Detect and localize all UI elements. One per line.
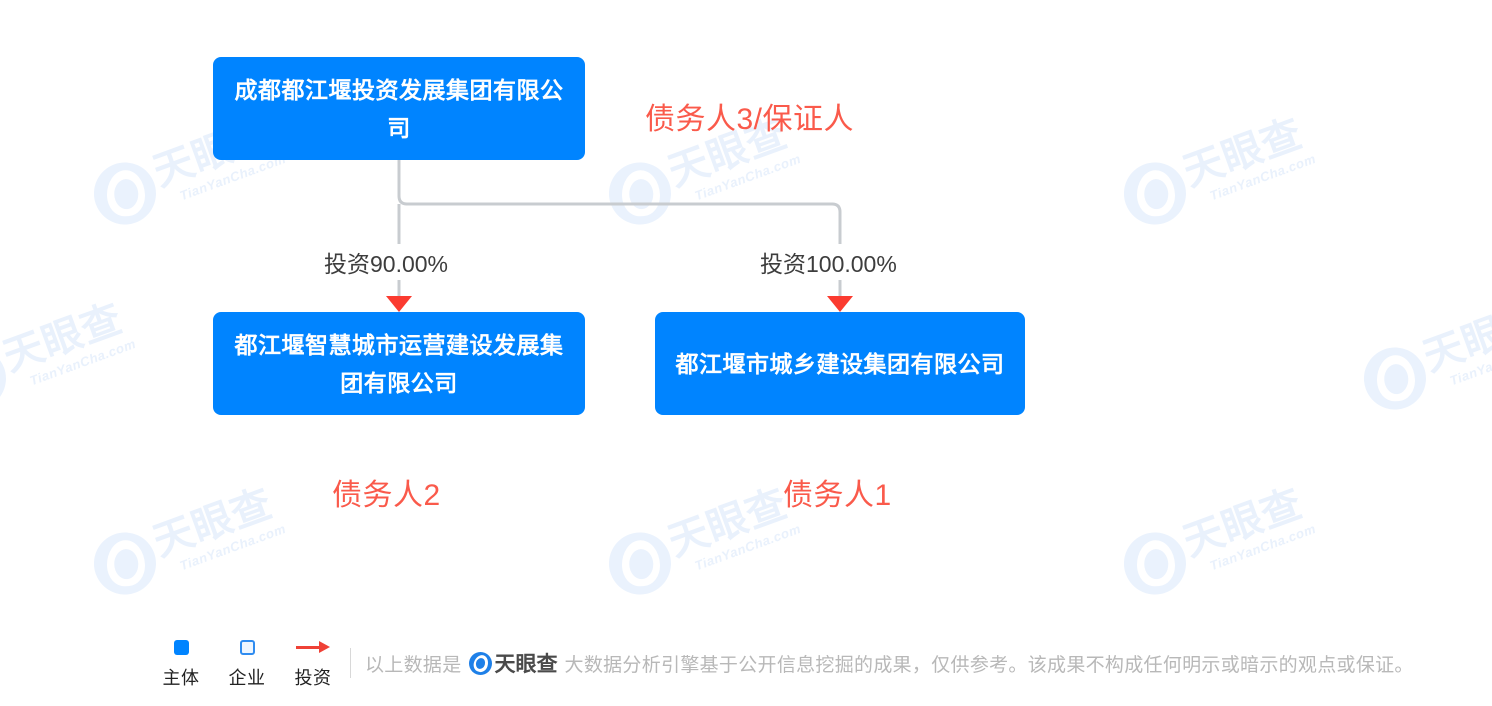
hollow-square-icon	[240, 636, 255, 658]
tianyancha-logo-icon	[469, 652, 492, 675]
filled-square-icon	[174, 636, 189, 658]
tianyancha-brand-logo: 天眼查	[469, 648, 558, 678]
role-tag-parent: 债务人3/保证人	[645, 94, 854, 138]
legend-item-investment: 投资	[280, 636, 346, 690]
edge-label-investment-left: 投资90.00%	[321, 244, 451, 280]
disclaimer-text: 以上数据是 天眼查 大数据分析引擎基于公开信息挖掘的成果，仅供参考。该成果不构成…	[365, 648, 1414, 678]
edge-label-investment-right: 投资100.00%	[757, 244, 900, 280]
tianyancha-brand-text: 天眼查	[495, 648, 558, 678]
org-chart: 成都都江堰投资发展集团有限公司 都江堰智慧城市运营建设发展集团有限公司 都江堰市…	[0, 0, 1492, 706]
node-parent-company[interactable]: 成都都江堰投资发展集团有限公司	[213, 57, 585, 160]
legend-item-enterprise: 企业	[214, 636, 280, 690]
legend-item-subject: 主体	[148, 636, 214, 690]
legend-label-subject: 主体	[163, 664, 200, 690]
role-tag-child-right: 债务人1	[783, 470, 892, 514]
chart-footer: 主体 企业 投资 以上数据是 天眼查 大数据分析引擎基于公开信息挖掘的成果，仅供…	[0, 634, 1492, 692]
disclaimer-prefix: 以上数据是	[365, 650, 462, 677]
arrow-head-right	[827, 296, 853, 312]
disclaimer-suffix: 大数据分析引擎基于公开信息挖掘的成果，仅供参考。该成果不构成任何明示或暗示的观点…	[565, 650, 1414, 677]
legend-label-enterprise: 企业	[229, 664, 266, 690]
node-child-left-company[interactable]: 都江堰智慧城市运营建设发展集团有限公司	[213, 312, 585, 415]
role-tag-child-left: 债务人2	[332, 470, 441, 514]
arrow-right-icon	[296, 636, 330, 658]
node-child-right-company[interactable]: 都江堰市城乡建设集团有限公司	[655, 312, 1025, 415]
arrow-head-left	[386, 296, 412, 312]
legend-label-investment: 投资	[295, 664, 332, 690]
footer-divider	[350, 648, 351, 678]
legend: 主体 企业 投资	[148, 636, 346, 690]
